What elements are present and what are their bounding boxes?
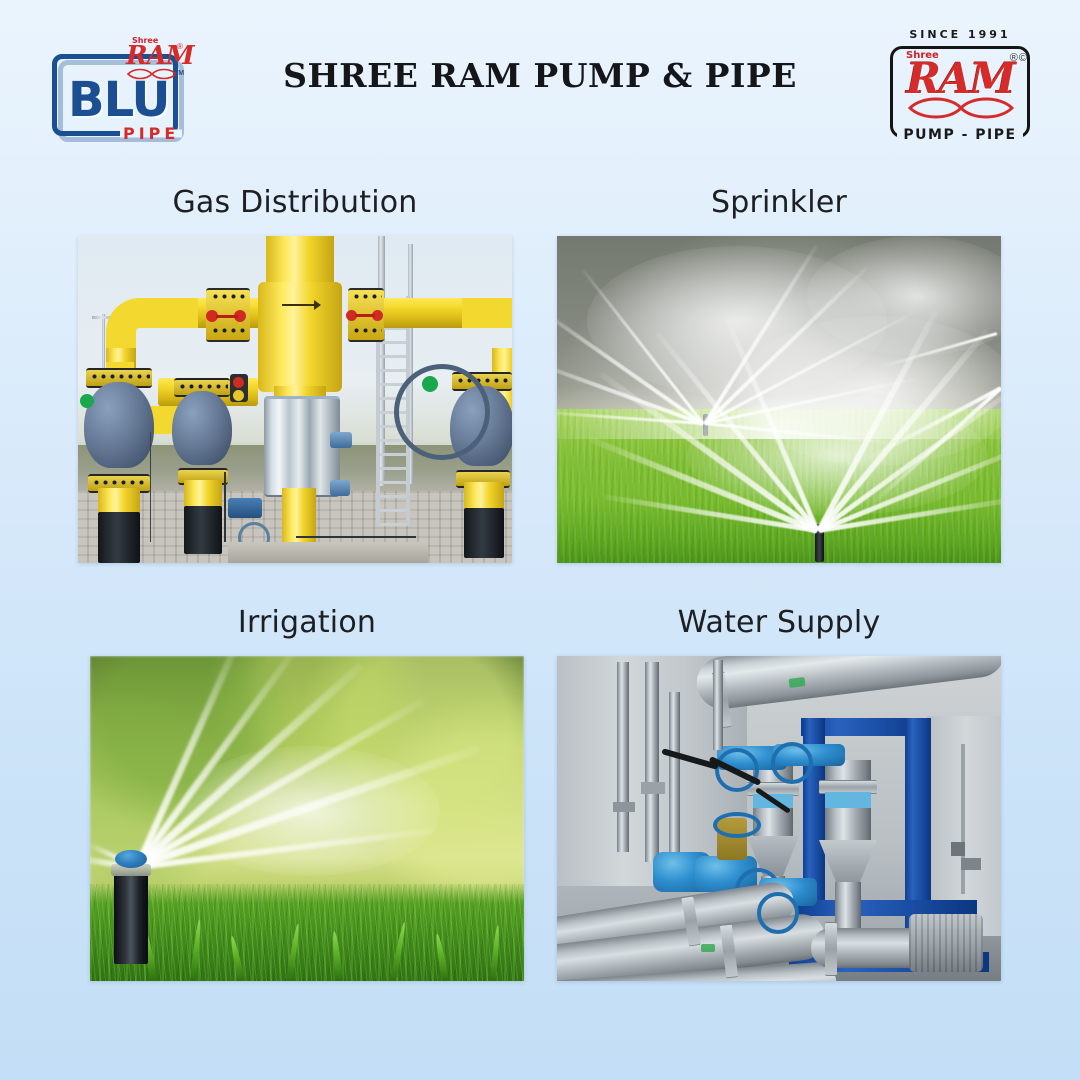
- pipe-green-marking: [789, 677, 806, 688]
- gas-flange-bolts: [350, 290, 382, 302]
- blu-logo-brand-text: BLU: [68, 76, 169, 124]
- irrigation-lawn: [90, 884, 524, 982]
- grid-cell-gas-distribution[interactable]: Gas Distribution: [78, 188, 512, 563]
- valve-handwheel[interactable]: [771, 742, 813, 784]
- ram-logo-footer-text: PUMP - PIPE: [897, 127, 1022, 143]
- blu-logo-tm-mark: TM: [174, 70, 184, 77]
- grid-cell-water-supply[interactable]: Water Supply: [557, 608, 1001, 981]
- gas-flow-arrow-head: [314, 300, 321, 310]
- cell-label-gas-distribution: Gas Distribution: [78, 188, 512, 218]
- gas-blue-fitting: [330, 480, 350, 496]
- cell-label-sprinkler: Sprinkler: [557, 188, 1001, 218]
- gas-valve-bolts: [88, 370, 150, 381]
- gas-flange-bolts: [350, 324, 382, 336]
- gas-vessel-top: [266, 236, 334, 286]
- wall-fixture: [951, 842, 965, 856]
- gas-indicator-red: [233, 377, 244, 388]
- gas-red-link: [355, 314, 375, 317]
- gas-valve-body: [172, 391, 232, 465]
- photo-gas-distribution[interactable]: [78, 236, 512, 563]
- gas-steel-filter: [264, 396, 340, 497]
- ram-logo-footer: PUMP - PIPE: [880, 126, 1040, 144]
- ram-flourish-icon: [906, 94, 1016, 122]
- gas-cable: [224, 472, 226, 542]
- gas-red-link: [216, 315, 238, 318]
- shree-ram-logo[interactable]: SINCE 1991 Shree RAM ®© PUMP - PIPE: [880, 28, 1040, 150]
- gas-vessel-body: [258, 282, 342, 392]
- gas-valve-base: [464, 508, 504, 558]
- gas-valve-bolts: [90, 476, 148, 487]
- pump-motor: [909, 914, 983, 972]
- gas-valve-riser: [98, 488, 140, 514]
- gas-indicator-amber: [233, 390, 244, 401]
- gas-flange-bolts: [209, 324, 247, 336]
- poster-header: Shree RAM ® BLU TM PIPE SHREE RAM PUMP &…: [0, 0, 1080, 168]
- gas-valve-riser: [464, 482, 504, 510]
- gas-valve-riser: [184, 480, 222, 508]
- cell-label-irrigation: Irrigation: [90, 608, 524, 638]
- water-mist: [180, 746, 440, 876]
- blu-logo-product-text: PIPE: [120, 124, 182, 143]
- water-haze: [557, 236, 1001, 439]
- gas-blue-box: [228, 498, 262, 518]
- poster-canvas: Shree RAM ® BLU TM PIPE SHREE RAM PUMP &…: [0, 0, 1080, 1080]
- ram-logo-since-text: SINCE 1991: [880, 28, 1040, 41]
- gas-cable: [150, 432, 151, 542]
- pipe-green-marking: [701, 944, 715, 952]
- instrument-pipe: [645, 662, 659, 862]
- ram-flourish-icon: [126, 67, 178, 81]
- grid-cell-irrigation[interactable]: Irrigation: [90, 608, 524, 981]
- wall-pipe: [961, 744, 965, 894]
- photo-irrigation[interactable]: [90, 656, 524, 981]
- pipe-bracket: [613, 802, 635, 812]
- instrument-pipe: [617, 662, 629, 852]
- ram-logo-registered-mark: ®©: [1010, 52, 1028, 64]
- instrument-pipe: [669, 692, 680, 862]
- gas-valve-body: [84, 382, 154, 468]
- gas-valve-bolts: [176, 380, 228, 390]
- blu-logo-ram-text: RAM: [126, 43, 194, 69]
- wall-fixture: [961, 858, 981, 870]
- gas-downpipe: [282, 488, 316, 542]
- gas-flow-arrow: [282, 304, 318, 306]
- sprinkler-head-body[interactable]: [114, 872, 148, 964]
- valve-handwheel[interactable]: [713, 812, 761, 838]
- grid-cell-sprinkler[interactable]: Sprinkler: [557, 188, 1001, 563]
- photo-sprinkler[interactable]: [557, 236, 1001, 563]
- instrument-pipe: [713, 660, 723, 750]
- gas-plinth: [228, 542, 428, 563]
- application-grid: Gas Distribution: [0, 168, 1080, 1080]
- gas-valve-base: [98, 512, 140, 563]
- gas-cable: [296, 536, 416, 538]
- gas-blue-fitting: [330, 432, 352, 448]
- pipe-flange: [825, 922, 837, 976]
- gas-handwheel: [394, 364, 490, 460]
- photo-water-supply[interactable]: [557, 656, 1001, 981]
- pipe-bracket: [641, 782, 665, 794]
- gas-green-indicator: [80, 394, 94, 408]
- pipe-blue-band: [825, 792, 871, 808]
- gas-flange-bolts: [209, 290, 247, 302]
- cell-label-water-supply: Water Supply: [557, 608, 1001, 638]
- gas-valve-base: [184, 506, 222, 554]
- valve-handwheel[interactable]: [757, 892, 799, 934]
- sprinkler-head-cap: [115, 850, 147, 868]
- blu-logo-registered-mark: ®: [177, 42, 183, 51]
